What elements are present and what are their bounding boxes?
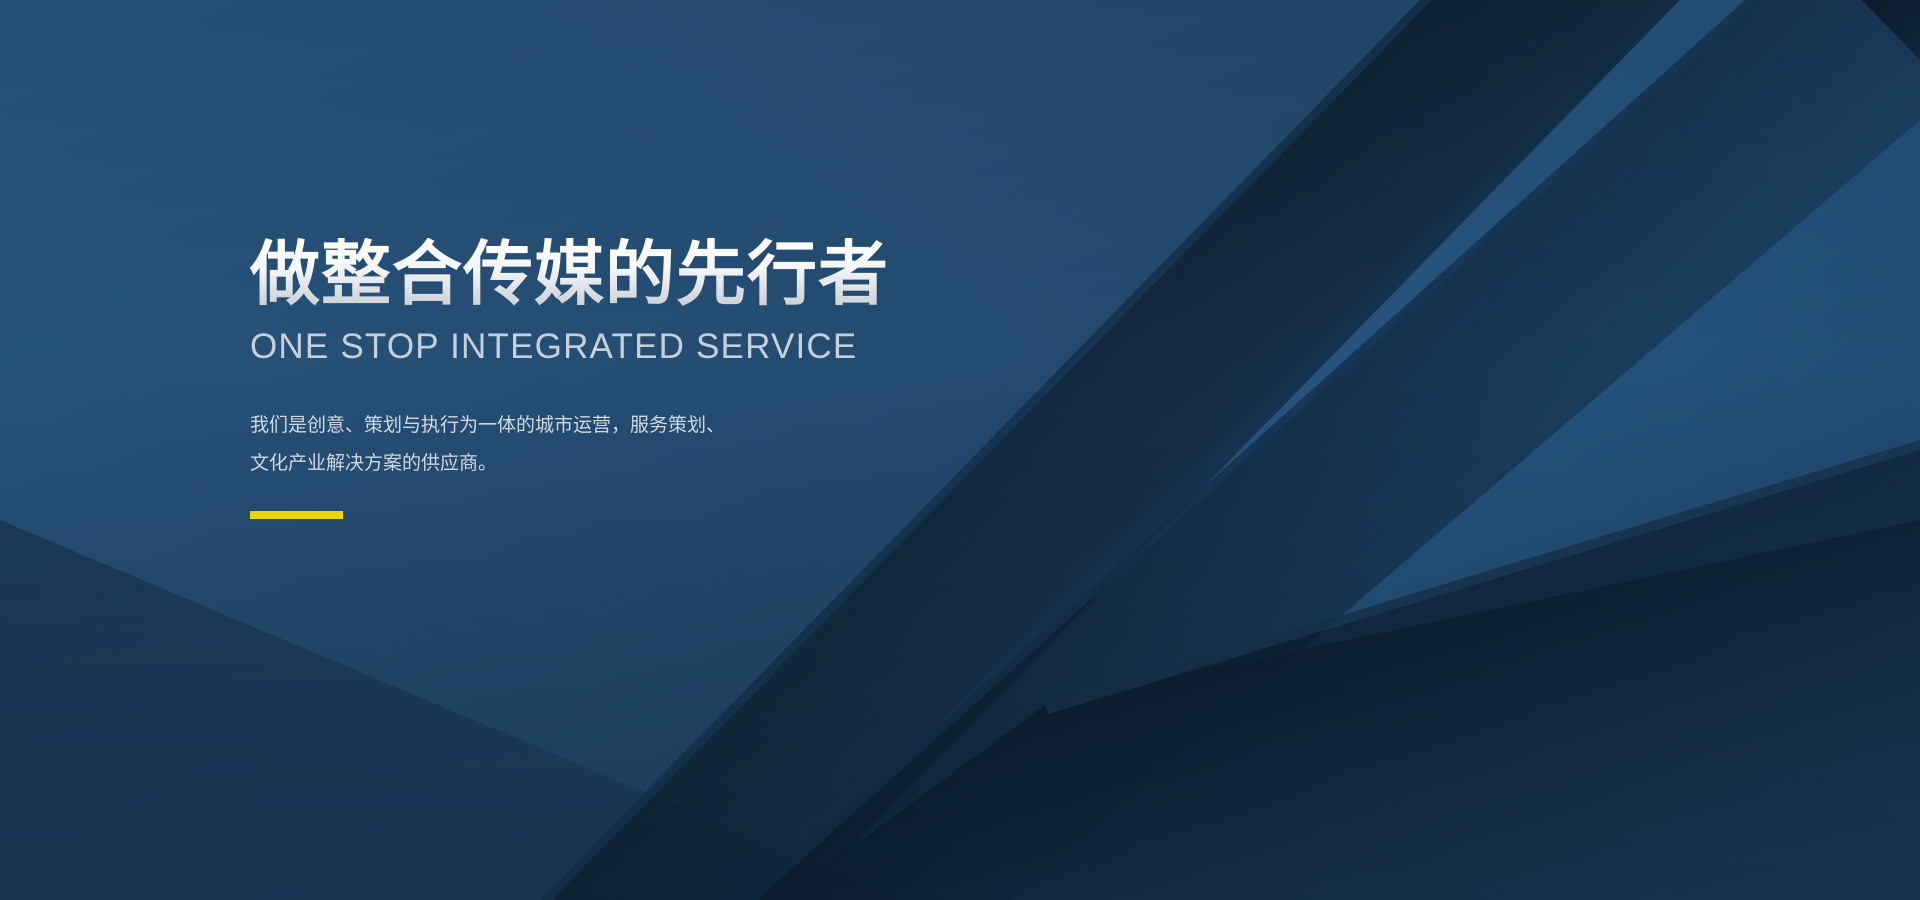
- accent-bar: [250, 511, 343, 519]
- hero-content: 做整合传媒的先行者 ONE STOP INTEGRATED SERVICE 我们…: [250, 238, 1150, 519]
- hero-subheadline: ONE STOP INTEGRATED SERVICE: [250, 327, 1150, 367]
- hero-description-line-2: 文化产业解决方案的供应商。: [250, 445, 870, 483]
- hero-description-line-1: 我们是创意、策划与执行为一体的城市运营，服务策划、: [250, 407, 870, 445]
- hero-description: 我们是创意、策划与执行为一体的城市运营，服务策划、 文化产业解决方案的供应商。: [250, 407, 870, 483]
- hero-headline: 做整合传媒的先行者: [250, 238, 1150, 311]
- hero-banner: 做整合传媒的先行者 ONE STOP INTEGRATED SERVICE 我们…: [0, 0, 1920, 900]
